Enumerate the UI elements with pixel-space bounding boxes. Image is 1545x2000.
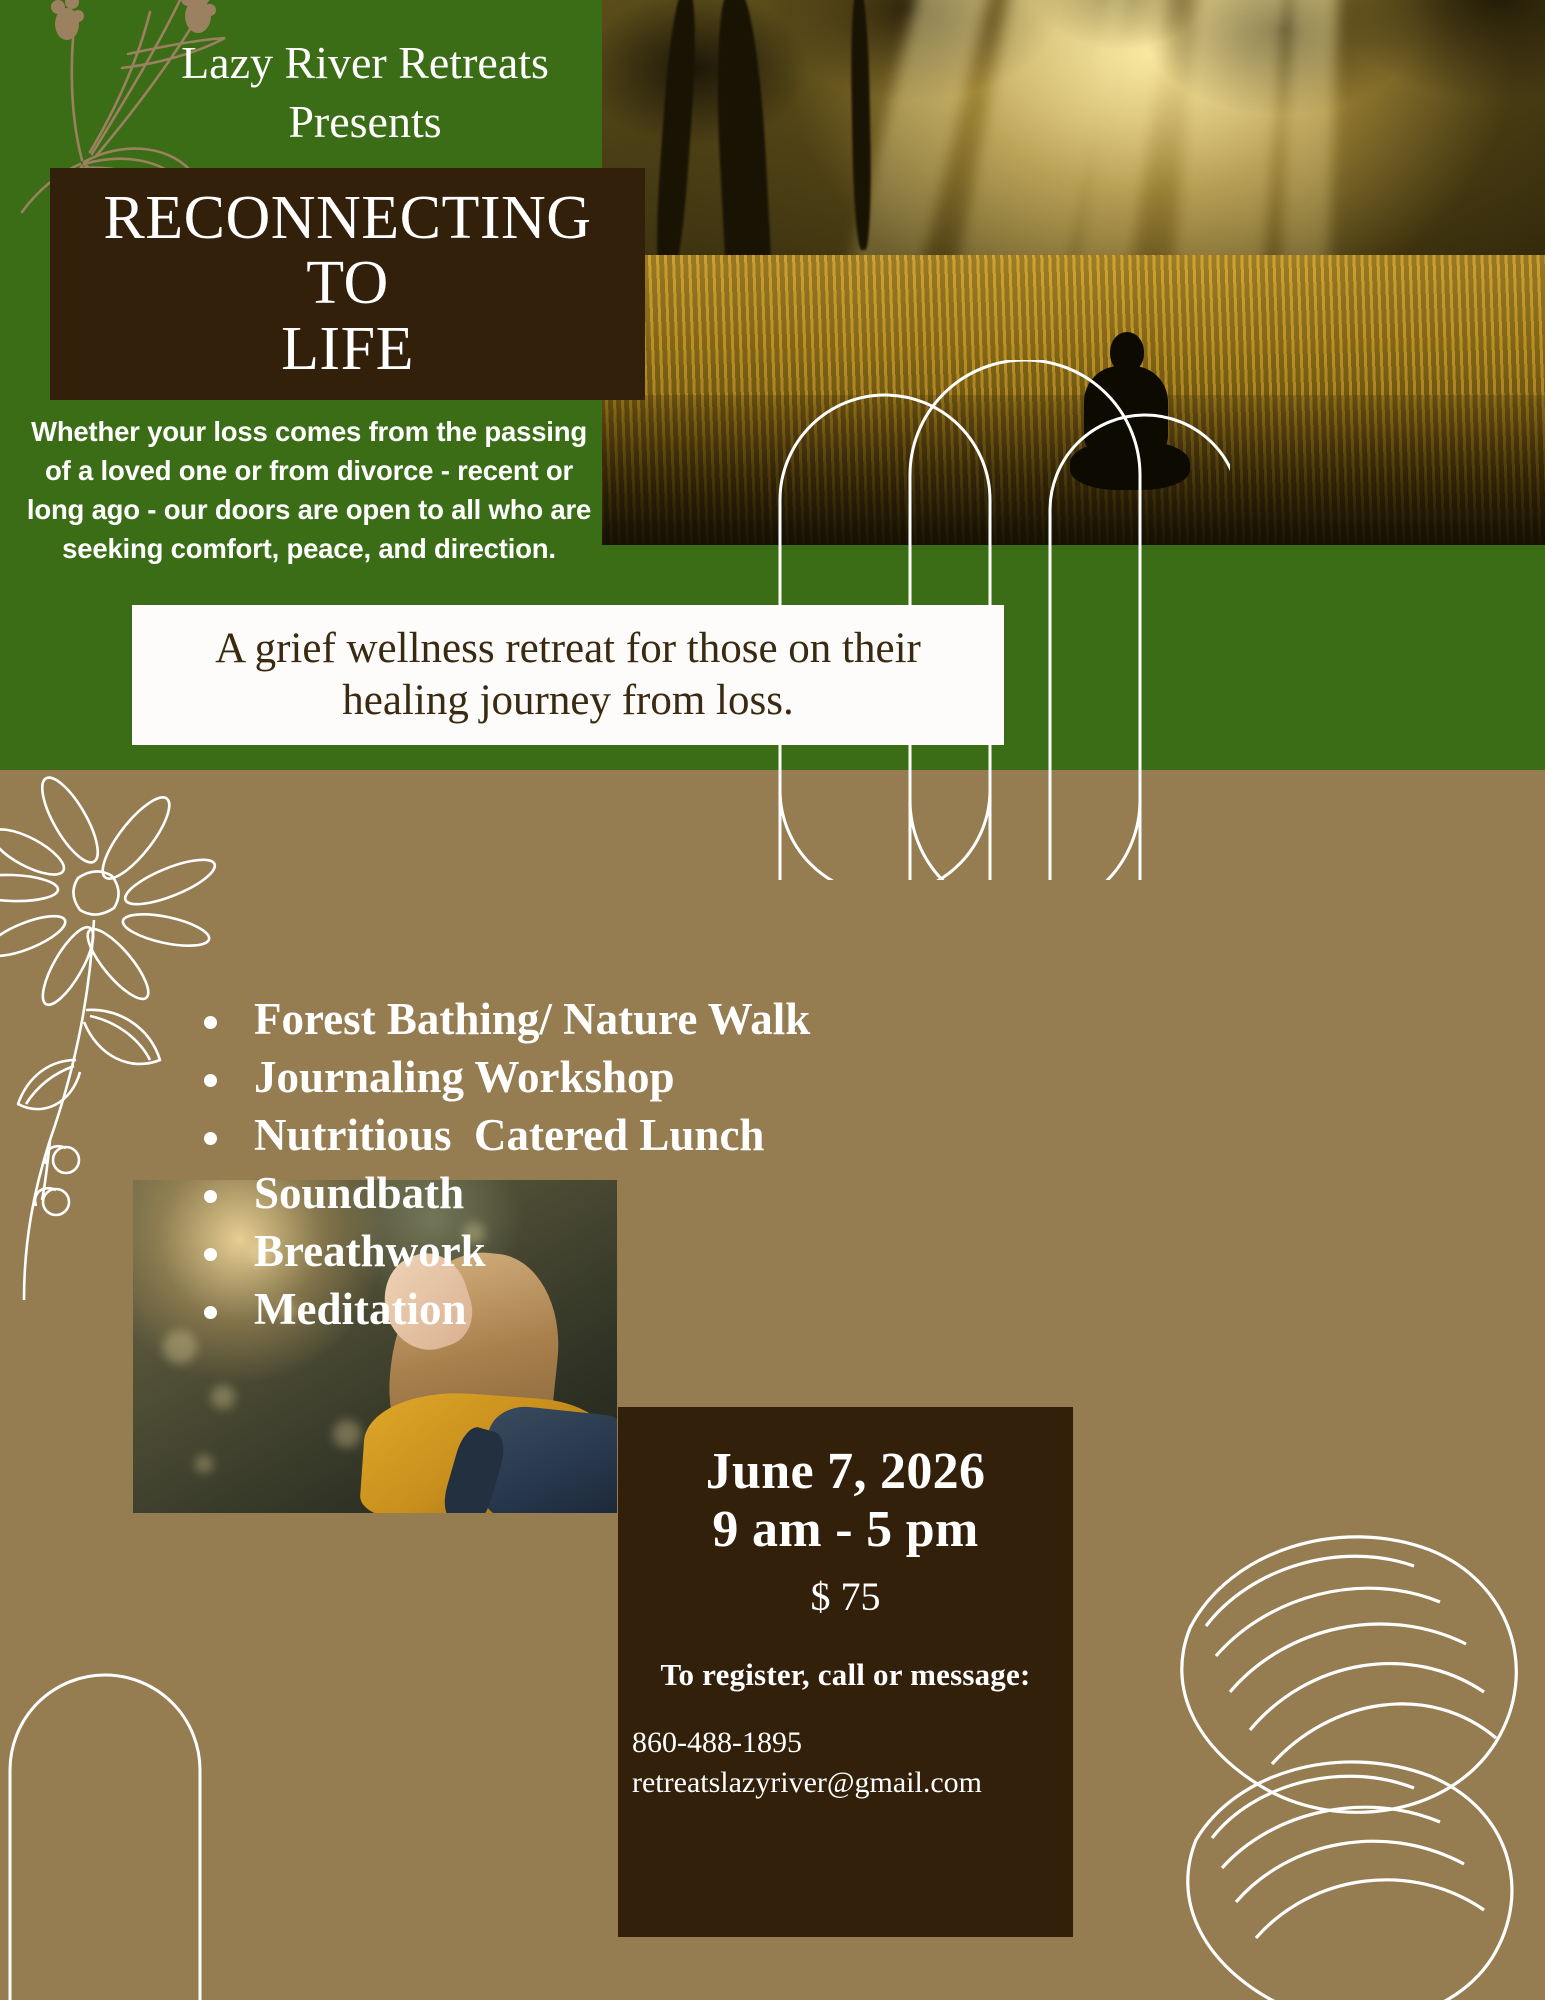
forest-photo [602, 0, 1545, 545]
list-item: Meditation [196, 1280, 956, 1338]
contact-info: 860-488-1895 retreatslazyriver@gmail.com [618, 1723, 1073, 1802]
arch-outline-icon [0, 1620, 230, 2000]
title-box: RECONNECTING TO LIFE [50, 168, 645, 400]
bokeh-light [195, 1455, 213, 1473]
contact-email[interactable]: retreatslazyriver@gmail.com [632, 1763, 1073, 1803]
event-time: 9 am - 5 pm [618, 1501, 1073, 1559]
presenter-line-1: Lazy River Retreats [150, 34, 580, 93]
flyer-page: Lazy River Retreats Presents RECONNECTIN… [0, 0, 1545, 2000]
list-item: Forest Bathing/ Nature Walk [196, 990, 956, 1048]
event-price: $ 75 [618, 1573, 1073, 1621]
event-date: June 7, 2026 [618, 1407, 1073, 1501]
bokeh-light [211, 1385, 235, 1409]
leaf-line-art-icon [1010, 1420, 1545, 2000]
intro-paragraph: Whether your loss comes from the passing… [16, 412, 602, 568]
list-item: Nutritious Catered Lunch [196, 1106, 956, 1164]
bokeh-light [163, 1330, 197, 1364]
tagline-box: A grief wellness retreat for those on th… [132, 605, 1004, 745]
list-item: Journaling Workshop [196, 1048, 956, 1106]
page-title: RECONNECTING TO LIFE [50, 186, 645, 381]
list-item: Soundbath [196, 1164, 956, 1222]
activities-list: Forest Bathing/ Nature Walk Journaling W… [196, 990, 956, 1338]
list-item: Breathwork [196, 1222, 956, 1280]
presenter-header: Lazy River Retreats Presents [150, 34, 580, 152]
title-line-1: RECONNECTING TO [68, 186, 627, 316]
contact-phone[interactable]: 860-488-1895 [632, 1723, 1073, 1763]
title-line-2: LIFE [68, 317, 627, 382]
register-cta: To register, call or message: [618, 1657, 1073, 1693]
figure-legs [1070, 440, 1190, 490]
details-box: June 7, 2026 9 am - 5 pm $ 75 To registe… [618, 1407, 1073, 1937]
bokeh-light [333, 1420, 361, 1448]
presenter-line-2: Presents [150, 93, 580, 152]
meditating-person-silhouette [1070, 332, 1190, 497]
tagline-text: A grief wellness retreat for those on th… [132, 623, 1004, 728]
